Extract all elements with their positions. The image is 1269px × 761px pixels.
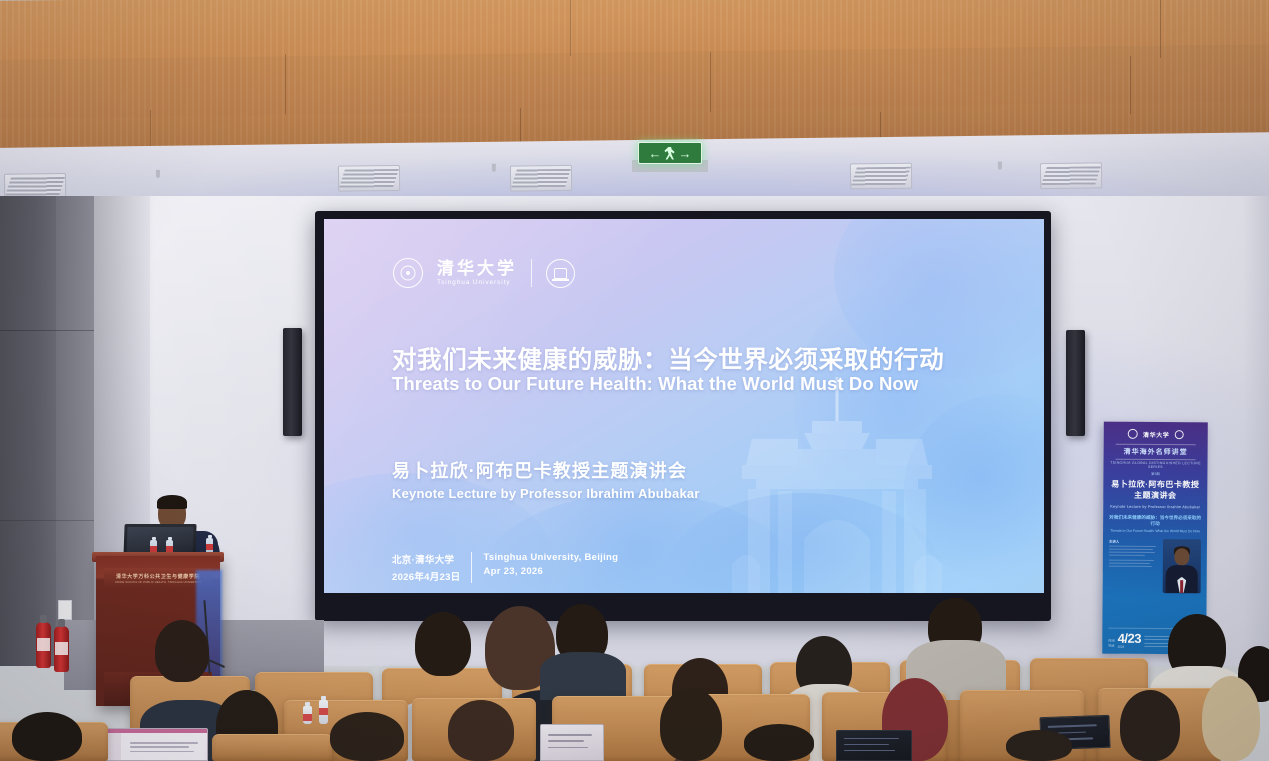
audience: [0, 0, 1269, 761]
auditorium-seat: [212, 734, 332, 761]
attendee-laptop[interactable]: [540, 724, 604, 761]
attendee-head: [660, 688, 722, 761]
attendee-head: [415, 612, 471, 676]
attendee-head: [1120, 690, 1180, 761]
attendee-laptop[interactable]: [836, 730, 912, 761]
attendee-head: [1006, 730, 1072, 761]
attendee-head: [744, 724, 814, 761]
attendee-head: [12, 712, 82, 761]
lecture-hall-photo: ← →: [0, 0, 1269, 761]
attendee-head: [155, 620, 209, 682]
attendee-head: [330, 712, 404, 761]
attendee-head: [1202, 676, 1260, 761]
water-bottle: [319, 700, 328, 724]
water-bottle: [303, 706, 312, 724]
attendee-head: [448, 700, 514, 761]
attendee-laptop[interactable]: [96, 728, 208, 761]
